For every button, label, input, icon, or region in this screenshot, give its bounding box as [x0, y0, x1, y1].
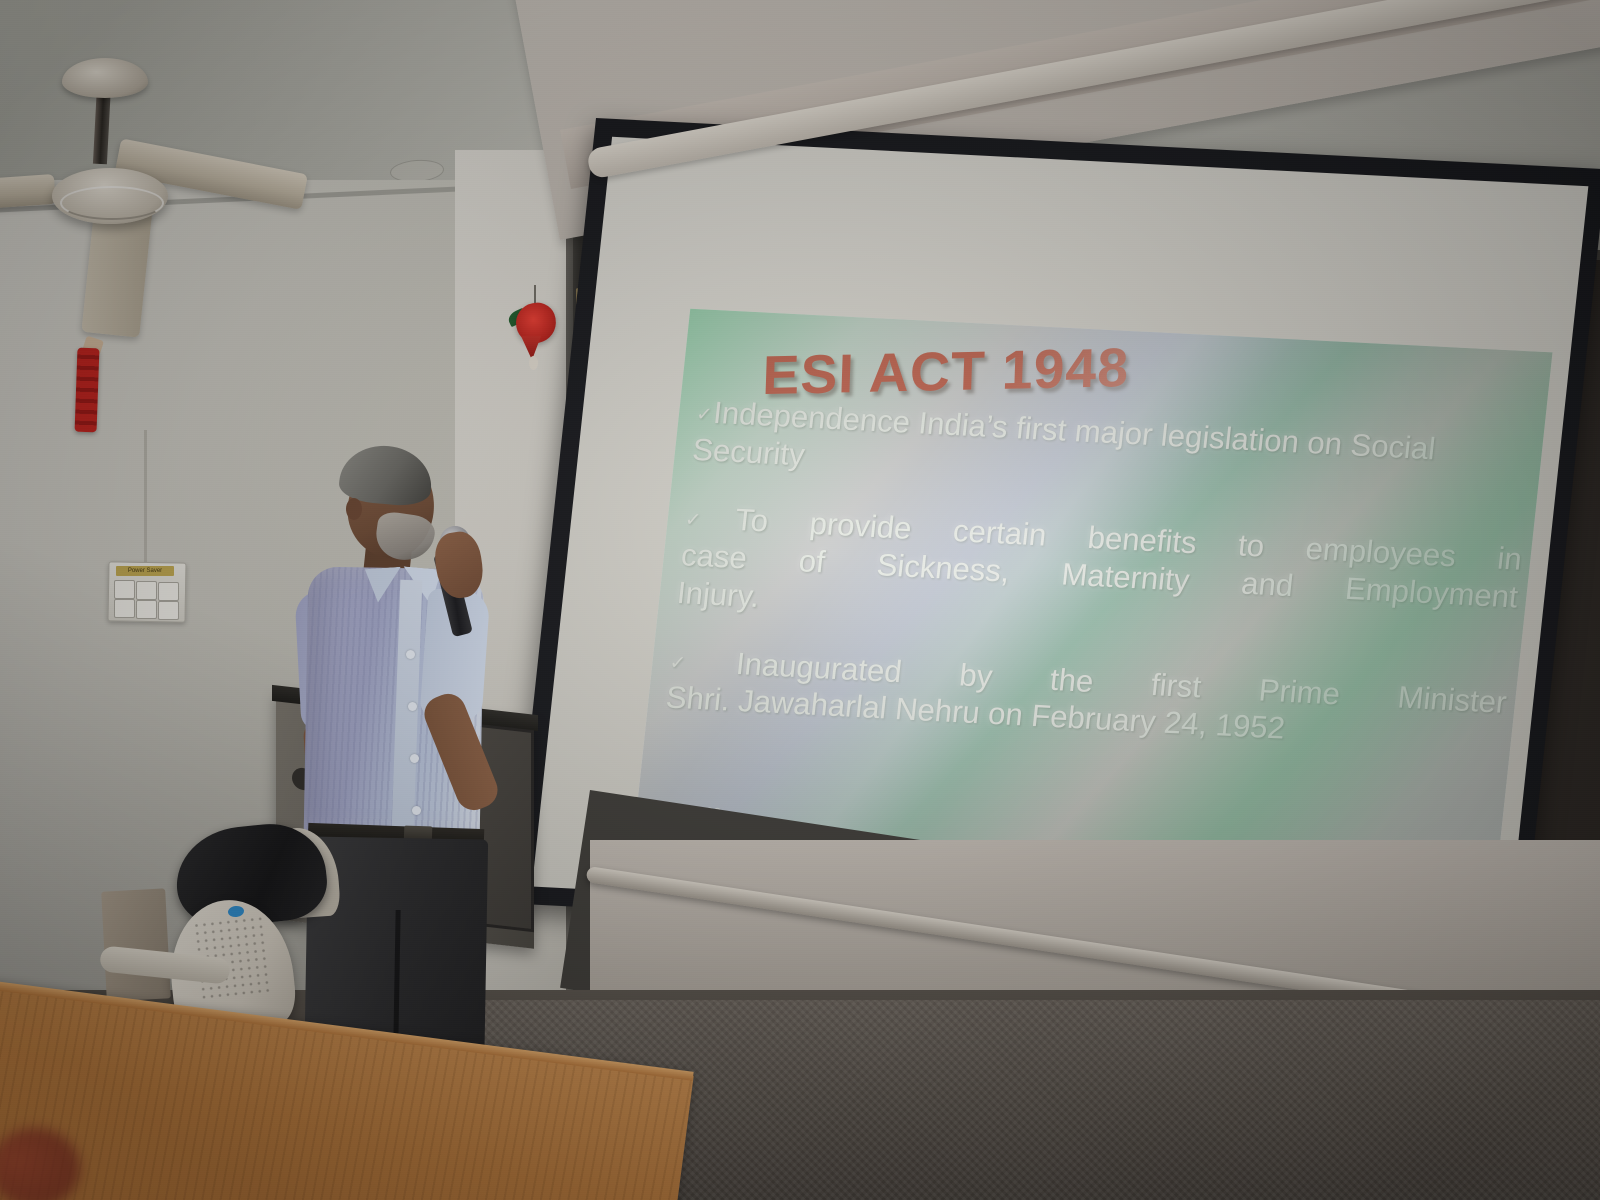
- switch-3[interactable]: [158, 582, 179, 601]
- checkmark-icon: ✓: [684, 510, 735, 533]
- shirt-button-4: [412, 806, 421, 815]
- shirt-button-2: [408, 702, 417, 711]
- slide-bullet-2: ✓To provide certain benefits to employee…: [675, 499, 1523, 654]
- fan-ceiling-mount: [62, 58, 148, 98]
- checkmark-icon: ✓: [695, 405, 713, 427]
- shirt-button-3: [410, 754, 419, 763]
- wall-conduit: [144, 430, 147, 565]
- switch-1[interactable]: [114, 580, 135, 599]
- switchboard-label: Power Saver: [116, 566, 174, 576]
- fan-hub-ring: [60, 186, 164, 220]
- ear: [346, 498, 362, 520]
- room: ⤷ Power Saver: [0, 0, 1600, 1200]
- switch-2[interactable]: [136, 581, 157, 600]
- switch-5[interactable]: [136, 600, 157, 619]
- projected-slide: ESI ACT 1948 ✓Independence India’s first…: [634, 309, 1552, 878]
- presentation-room-photo: ⤷ Power Saver: [0, 0, 1600, 1200]
- slide-title: ESI ACT 1948: [761, 328, 1474, 407]
- red-torana-decoration: [75, 348, 100, 433]
- slide-bullet-list: ✓Independence India’s first major legisl…: [661, 394, 1535, 789]
- switch-4[interactable]: [114, 599, 135, 618]
- wooden-chair: [101, 888, 171, 1001]
- switch-6[interactable]: [158, 601, 179, 620]
- flower-bead: [529, 356, 538, 370]
- checkmark-icon: ✓: [669, 652, 736, 676]
- presenter: [290, 440, 530, 1120]
- slide-bullet-3: ✓Inaugurated by the first Prime Minister…: [664, 641, 1508, 759]
- shirt-button-1: [406, 650, 415, 659]
- bullet-1-line-1: Independence India’s first major legisla…: [712, 395, 1344, 462]
- slide-bullet-1: ✓Independence India’s first major legisl…: [690, 394, 1534, 512]
